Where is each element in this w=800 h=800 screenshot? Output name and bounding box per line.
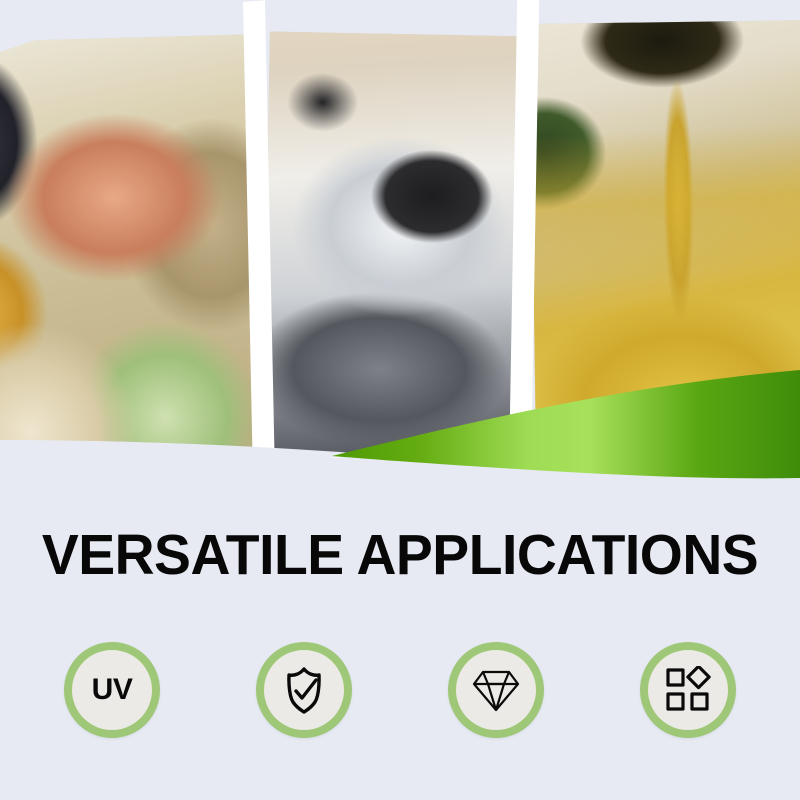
green-swoosh: [0, 330, 800, 520]
badge-shield-check[interactable]: [256, 642, 352, 738]
badge-multi-purpose[interactable]: [640, 642, 736, 738]
grid-apps-icon: [664, 666, 712, 714]
uv-label: UV: [92, 675, 133, 705]
page-title: VERSATILE APPLICATIONS: [12, 524, 788, 586]
badge-premium-quality[interactable]: [448, 642, 544, 738]
badge-uv-protection[interactable]: UV: [64, 642, 160, 738]
shield-check-icon: [278, 664, 330, 716]
feature-badge-row: UV: [64, 640, 736, 740]
diamond-icon: [470, 667, 522, 713]
swoosh-band: [332, 370, 800, 478]
versatile-applications-banner: VERSATILE APPLICATIONS UV: [0, 0, 800, 800]
